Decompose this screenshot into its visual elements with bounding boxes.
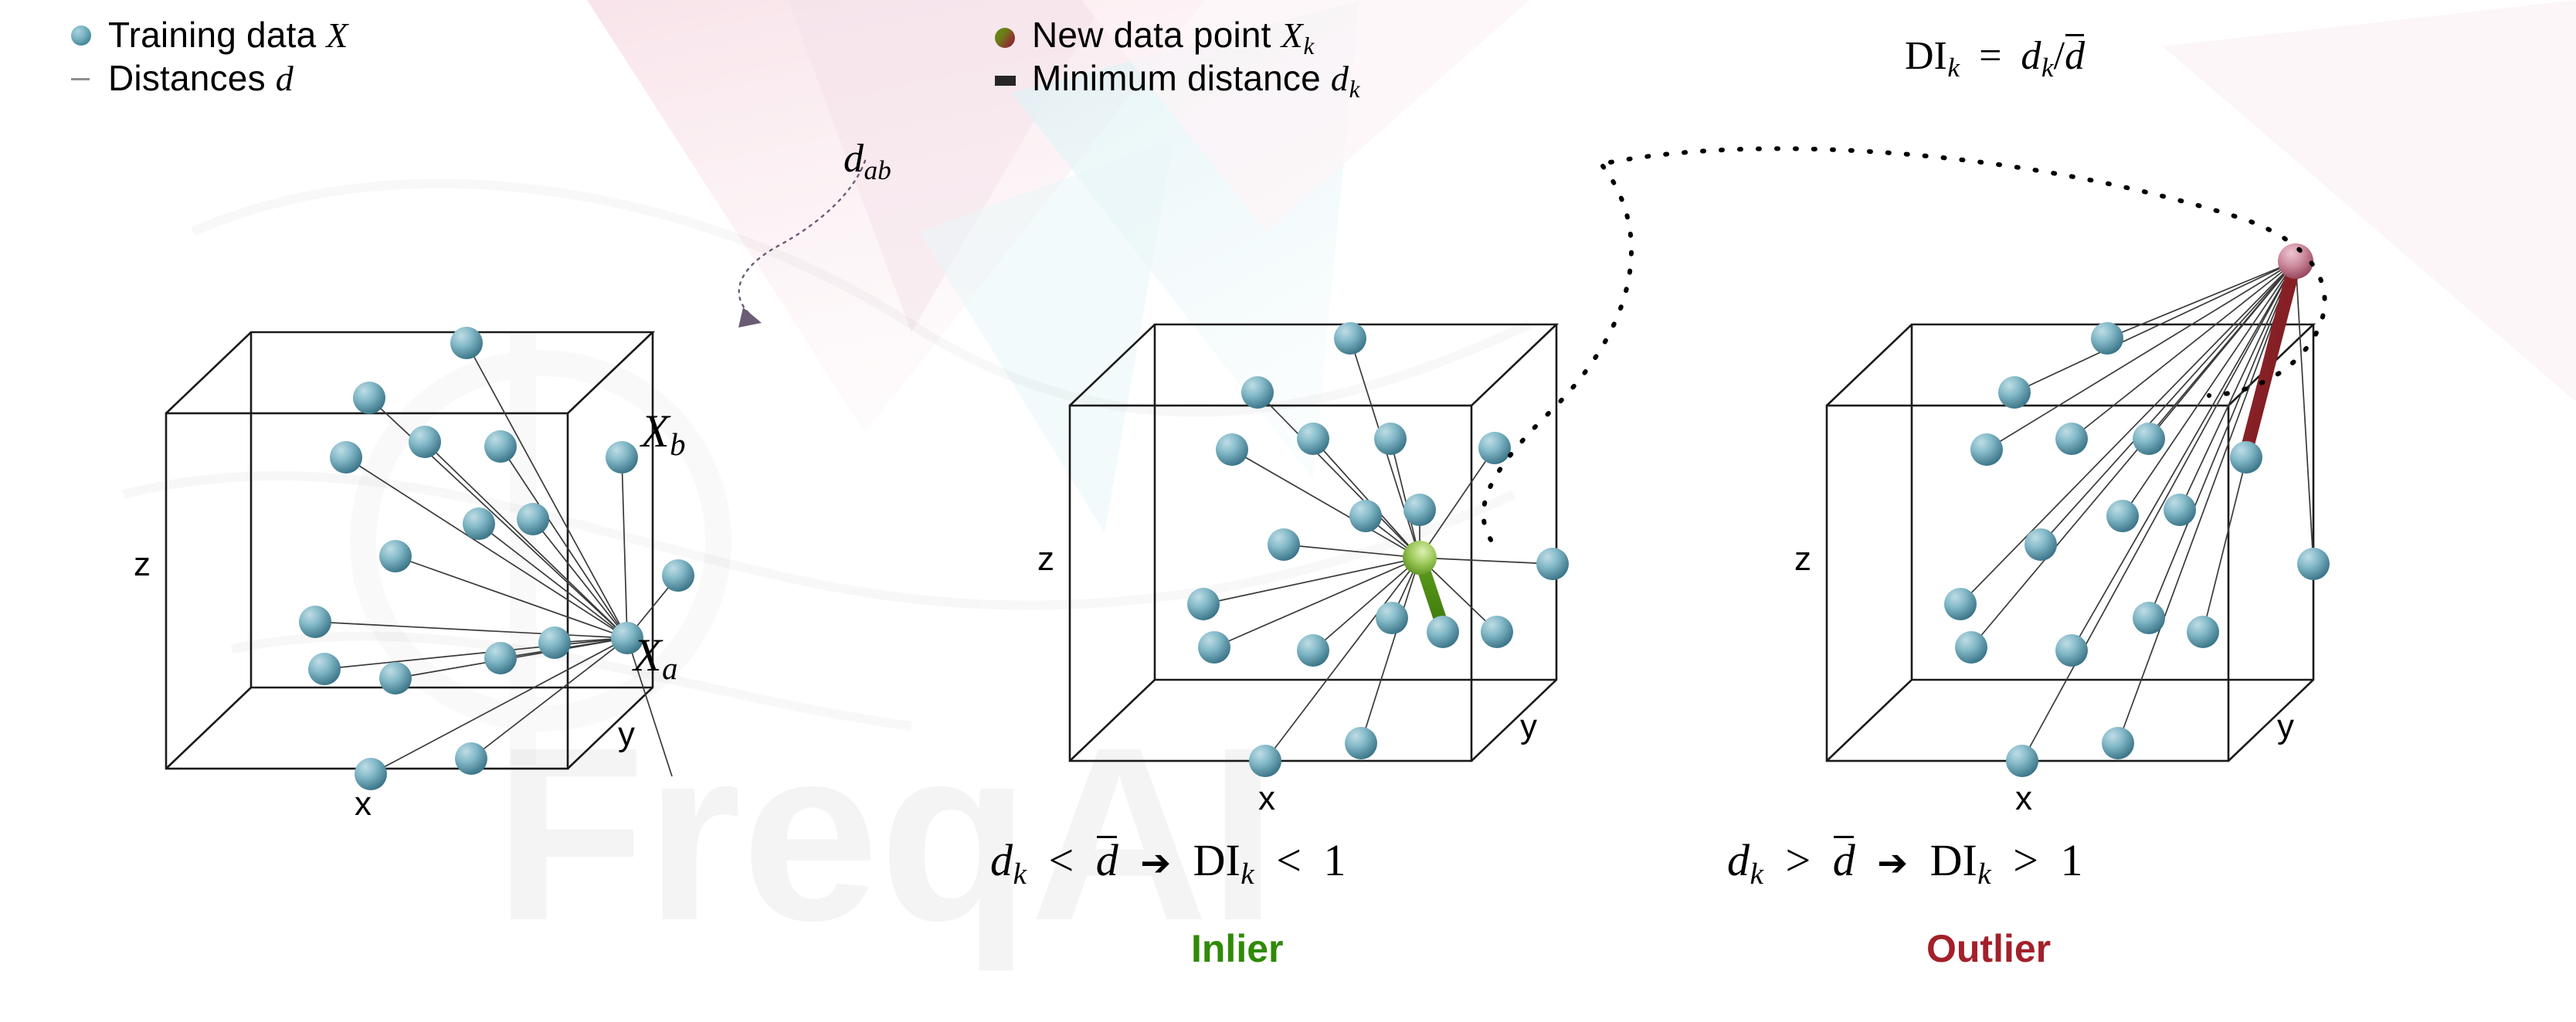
- axis-label-x-2: x: [1258, 779, 1275, 817]
- panel-outlier-cube: z x y: [1794, 243, 2330, 817]
- caption-inlier-condition: dk < d ➔ DIk < 1: [990, 838, 1346, 889]
- cube-wireframe-2: [1070, 324, 1556, 761]
- caption-outlier-condition: dk > d ➔ DIk > 1: [1727, 838, 2082, 889]
- point-xk-inlier: [1403, 541, 1437, 575]
- cube-wireframe-3: [1827, 324, 2313, 761]
- dark-bar-icon: [995, 76, 1016, 86]
- verdict-outlier: Outlier: [1926, 929, 2051, 968]
- panel-inlier-cube: z x y: [1037, 322, 1569, 817]
- axis-label-z-3: z: [1794, 540, 1811, 578]
- training-points-3: [1944, 243, 2330, 777]
- gray-dash-icon: [71, 78, 90, 80]
- dab-arrowhead: [738, 307, 762, 328]
- green-red-dot-icon: [995, 28, 1015, 48]
- legend-label-new-data-point: New data point Xk: [1032, 17, 1315, 58]
- legend-item-training-data: Training data X: [71, 17, 348, 53]
- legend-item-new-data-point: New data point Xk: [995, 17, 1315, 58]
- legend-item-minimum-distance: Minimum distance dk: [995, 60, 1360, 101]
- axis-label-y-1: y: [618, 715, 635, 753]
- teal-sphere-dot-icon: [71, 25, 91, 46]
- point-xk-outlier: [2278, 243, 2313, 279]
- training-points-1: [299, 327, 694, 790]
- label-xa: Xa: [633, 632, 678, 685]
- dotted-connector-right: [1610, 148, 2325, 396]
- dab-label: dab: [843, 139, 891, 184]
- training-points-2: [1187, 322, 1569, 777]
- di-formula: DIk = dk/d: [1905, 36, 2085, 81]
- legend-label-minimum-distance: Minimum distance dk: [1032, 60, 1360, 101]
- panel-training-cube: z x y: [134, 161, 865, 823]
- axis-label-y-3: y: [2277, 708, 2294, 745]
- legend-label-training-data: Training data X: [108, 17, 348, 53]
- label-xb: Xb: [641, 408, 686, 461]
- axis-label-z-1: z: [134, 545, 151, 583]
- legend-item-distances: Distances d: [71, 60, 294, 97]
- axis-label-z-2: z: [1037, 540, 1054, 578]
- verdict-inlier: Inlier: [1191, 929, 1283, 968]
- axis-label-x-3: x: [2015, 779, 2032, 817]
- axis-label-y-2: y: [1520, 708, 1537, 745]
- axis-label-x-1: x: [355, 785, 372, 823]
- legend-label-distances: Distances d: [108, 60, 294, 97]
